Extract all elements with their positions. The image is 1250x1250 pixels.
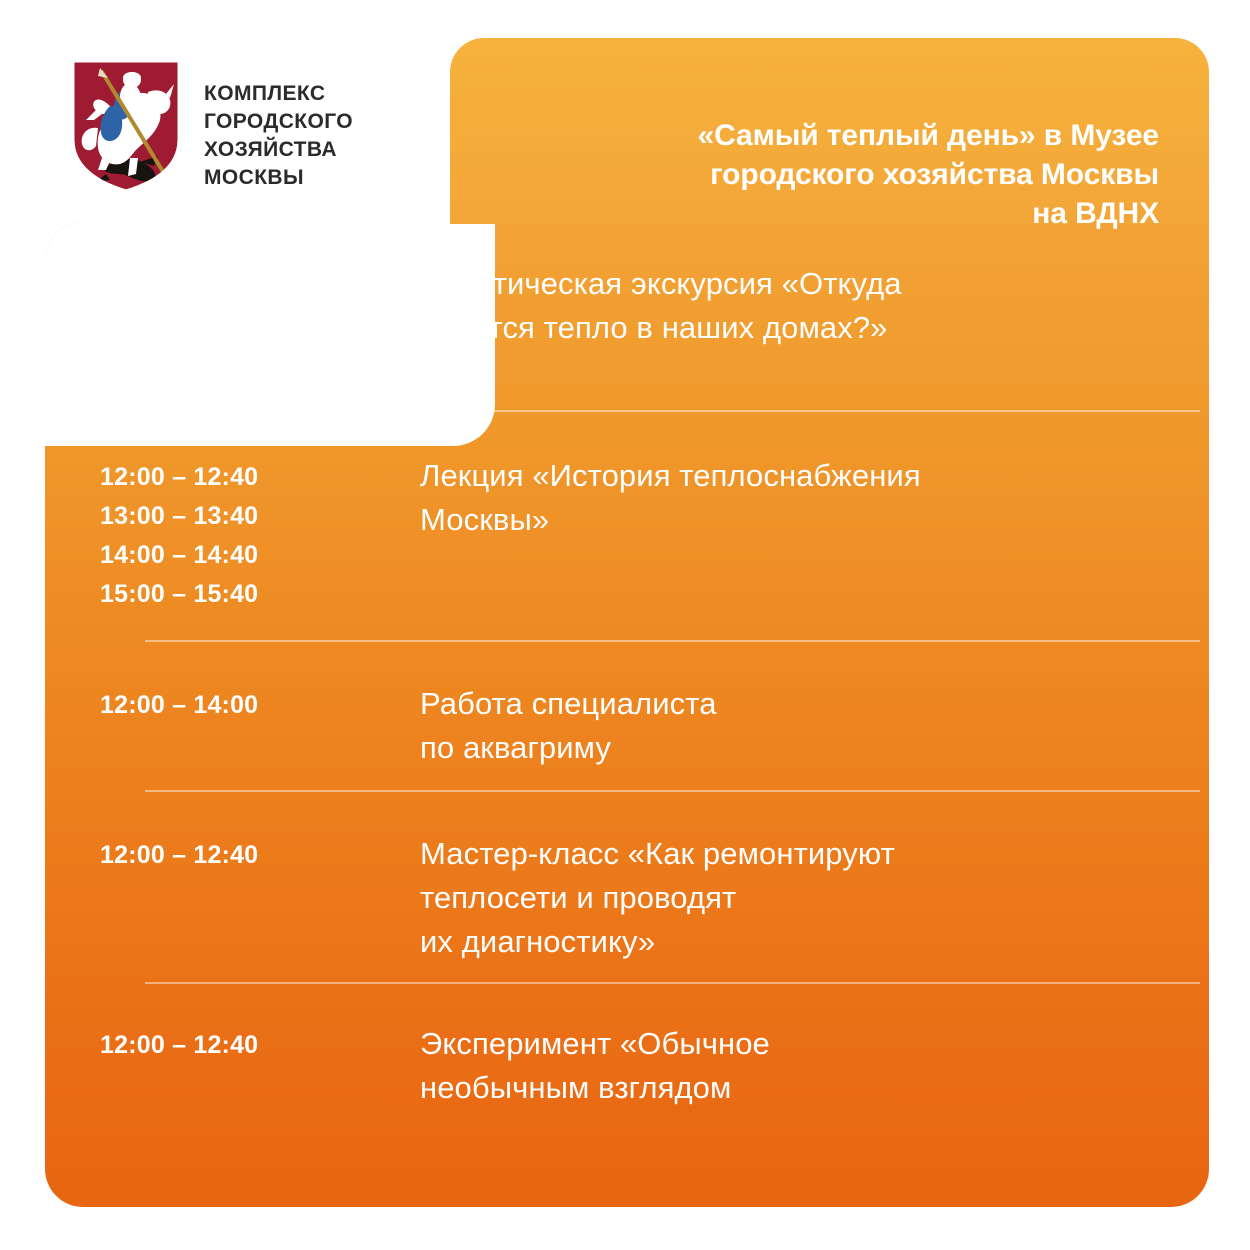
schedule-row: 12:00 – 12:40 13:00 – 13:40 14:00 – 14:4… <box>100 412 1209 640</box>
schedule-row-times: 12:00 – 14:00 <box>100 682 420 770</box>
schedule-row-title: Мастер-класс «Как ремонтируют теплосети … <box>420 832 1209 964</box>
schedule-card: Каждый час с 12:00 до 16:00 Тематическая… <box>45 222 1209 1207</box>
schedule-row-times: 12:00 – 12:40 <box>100 832 420 964</box>
time-slot: 12:00 – 12:40 <box>100 1026 420 1065</box>
schedule-row-times: 12:00 – 12:40 <box>100 1022 420 1110</box>
schedule-row-title: Тематическая экскурсия «Откуда берется т… <box>420 262 1209 350</box>
time-slot: 12:00 – 14:00 <box>100 686 420 725</box>
time-slot: 12:00 – 12:40 <box>100 836 420 875</box>
moscow-coat-of-arms-icon <box>70 58 182 194</box>
schedule-row-title: Работа специалиста по аквагриму <box>420 682 1209 770</box>
schedule-row-title: Лекция «История теплоснабжения Москвы» <box>420 454 1209 614</box>
schedule-row-times: 12:00 – 12:40 13:00 – 13:40 14:00 – 14:4… <box>100 454 420 614</box>
page-title: «Самый теплый день» в Музее городского х… <box>519 116 1159 233</box>
header-panel: «Самый теплый день» в Музее городского х… <box>450 38 1209 224</box>
brand-logo: КОМПЛЕКС ГОРОДСКОГО ХОЗЯЙСТВА МОСКВЫ <box>70 58 353 194</box>
schedule-row: 12:00 – 12:40 Мастер-класс «Как ремонтир… <box>100 792 1209 982</box>
schedule-row-times: Каждый час с 12:00 до 16:00 <box>100 262 420 350</box>
schedule-row: 12:00 – 12:40 Эксперимент «Обычное необы… <box>100 984 1209 1124</box>
time-slot: 12:00 – 12:40 13:00 – 13:40 14:00 – 14:4… <box>100 458 420 614</box>
poster-root: «Самый теплый день» в Музее городского х… <box>0 0 1250 1250</box>
time-slot: Каждый час с 12:00 до 16:00 <box>100 266 420 344</box>
schedule-row: Каждый час с 12:00 до 16:00 Тематическая… <box>100 262 1209 410</box>
schedule-row: 12:00 – 14:00 Работа специалиста по аква… <box>100 642 1209 790</box>
brand-name: КОМПЛЕКС ГОРОДСКОГО ХОЗЯЙСТВА МОСКВЫ <box>204 58 353 192</box>
schedule-list: Каждый час с 12:00 до 16:00 Тематическая… <box>100 262 1209 1124</box>
schedule-row-title: Эксперимент «Обычное необычным взглядом <box>420 1022 1209 1110</box>
